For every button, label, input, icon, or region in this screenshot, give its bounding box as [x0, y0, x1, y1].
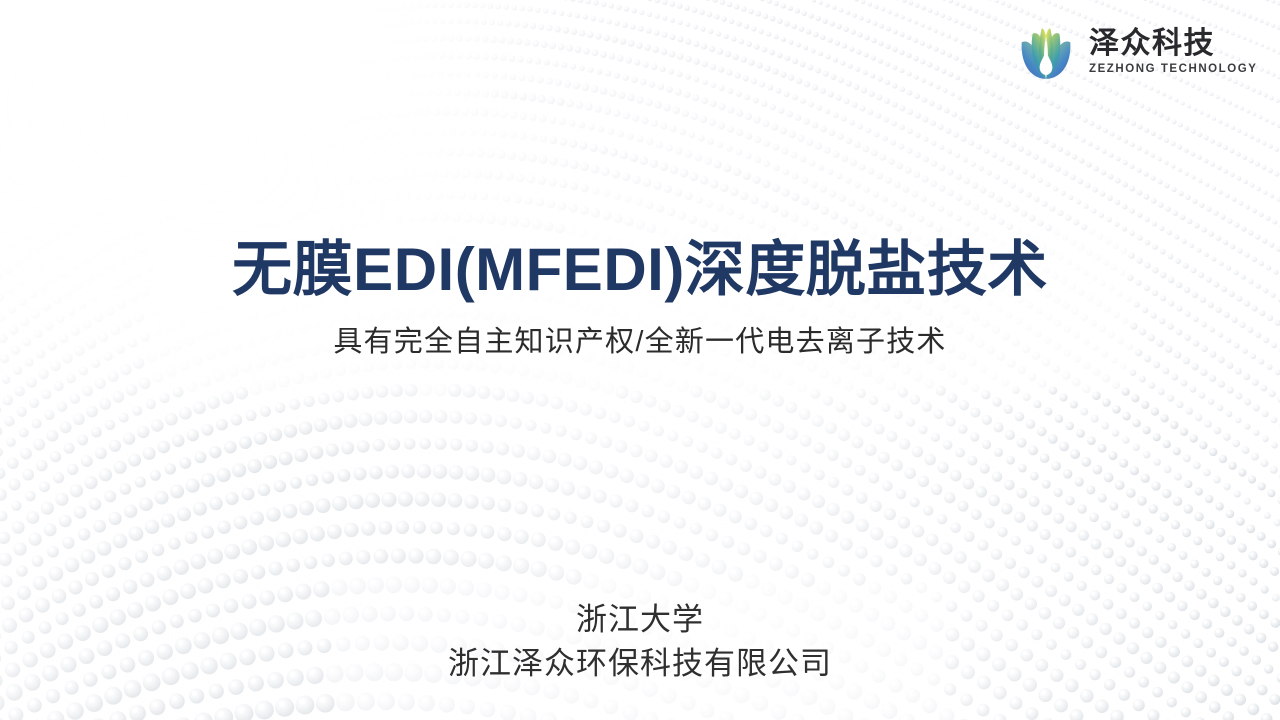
affiliation-line-company: 浙江泽众环保科技有限公司	[0, 642, 1280, 686]
company-logo: 泽众科技 ZEZHONG TECHNOLOGY	[1014, 18, 1257, 82]
slide-main-title: 无膜EDI(MFEDI)深度脱盐技术	[0, 236, 1280, 303]
title-block: 无膜EDI(MFEDI)深度脱盐技术 具有完全自主知识产权/全新一代电去离子技术	[0, 236, 1280, 360]
affiliation-line-university: 浙江大学	[0, 598, 1280, 642]
slide-subtitle: 具有完全自主知识产权/全新一代电去离子技术	[0, 325, 1280, 360]
logo-wordmark: 泽众科技 ZEZHONG TECHNOLOGY	[1089, 24, 1257, 75]
logo-company-name-en: ZEZHONG TECHNOLOGY	[1089, 63, 1257, 76]
lotus-droplet-icon	[1014, 18, 1078, 82]
logo-company-name-cn: 泽众科技	[1089, 28, 1257, 60]
title-slide: 泽众科技 ZEZHONG TECHNOLOGY 无膜EDI(MFEDI)深度脱盐…	[0, 0, 1280, 720]
affiliation-block: 浙江大学 浙江泽众环保科技有限公司	[0, 598, 1280, 686]
